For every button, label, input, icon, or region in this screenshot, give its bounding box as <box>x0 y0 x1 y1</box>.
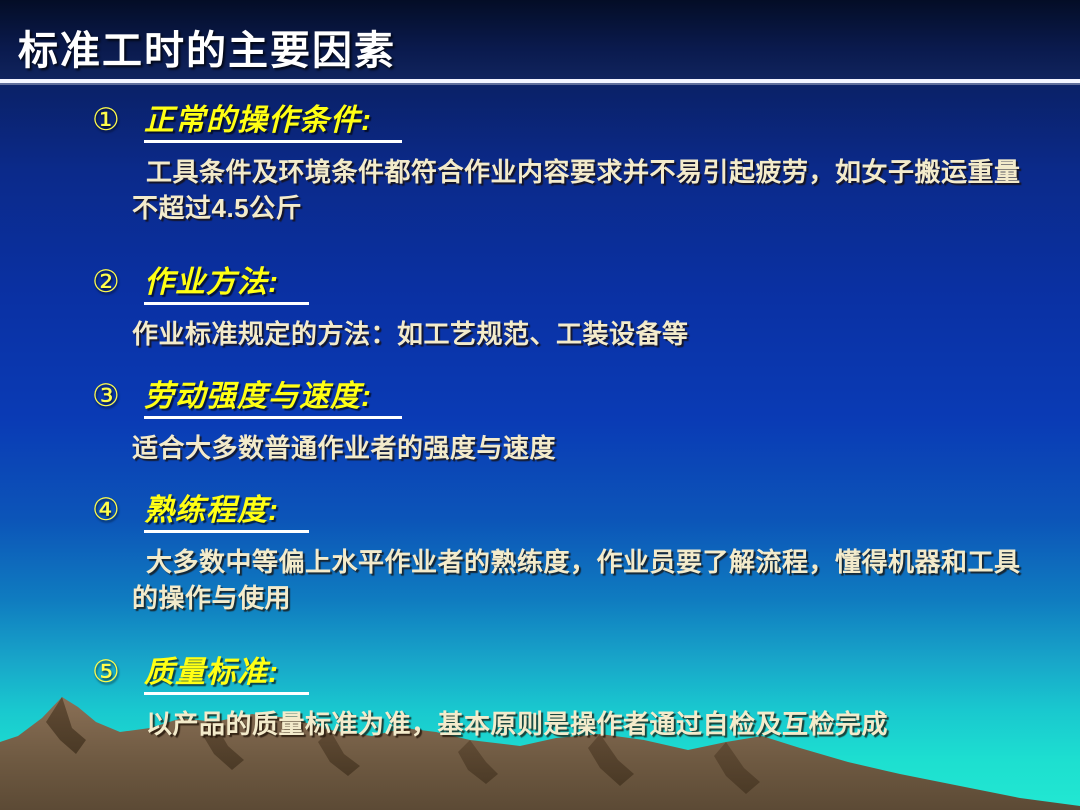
list-item-2-body: 作业标准规定的方法：如工艺规范、工装设备等 <box>132 316 1042 353</box>
list-item-3: ③ 劳动强度与速度: 适合大多数普通作业者的强度与速度 <box>0 380 1080 466</box>
list-item-5-body: 以产品的质量标准为准，基本原则是操作者通过自检及互检完成 <box>132 706 1042 743</box>
presentation-slide: 标准工时的主要因素 ① 正常的操作条件: 工具条件及环境条件都符合作业内容要求并… <box>0 0 1080 810</box>
list-item-3-body: 适合大多数普通作业者的强度与速度 <box>132 430 1042 467</box>
list-item-4: ④ 熟练程度: 大多数中等偏上水平作业者的熟练度，作业员要了解流程，懂得机器和工… <box>0 494 1080 617</box>
list-marker-4: ④ <box>92 494 144 525</box>
list-item-1-label: 正常的操作条件: <box>144 105 402 143</box>
list-marker-2: ② <box>92 266 144 297</box>
list-item-2: ② 作业方法: 作业标准规定的方法：如工艺规范、工装设备等 <box>0 266 1080 352</box>
list-item-3-heading-row: ③ 劳动强度与速度: <box>0 380 1080 419</box>
list-item-5: ⑤ 质量标准: 以产品的质量标准为准，基本原则是操作者通过自检及互检完成 <box>0 656 1080 742</box>
list-item-1: ① 正常的操作条件: 工具条件及环境条件都符合作业内容要求并不易引起疲劳，如女子… <box>0 104 1080 227</box>
list-marker-1: ① <box>92 104 144 135</box>
list-marker-5: ⑤ <box>92 656 144 687</box>
list-item-3-label: 劳动强度与速度: <box>144 381 402 419</box>
list-item-1-body: 工具条件及环境条件都符合作业内容要求并不易引起疲劳，如女子搬运重量不超过4.5公… <box>132 154 1042 228</box>
list-item-5-heading-row: ⑤ 质量标准: <box>0 656 1080 695</box>
list-item-4-body: 大多数中等偏上水平作业者的熟练度，作业员要了解流程，懂得机器和工具的操作与使用 <box>132 544 1042 618</box>
list-item-2-label: 作业方法: <box>144 267 309 305</box>
list-marker-3: ③ <box>92 380 144 411</box>
list-item-1-heading-row: ① 正常的操作条件: <box>0 104 1080 143</box>
page-title: 标准工时的主要因素 <box>18 18 396 76</box>
list-item-4-heading-row: ④ 熟练程度: <box>0 494 1080 533</box>
list-item-5-label: 质量标准: <box>144 657 309 695</box>
factor-list: ① 正常的操作条件: 工具条件及环境条件都符合作业内容要求并不易引起疲劳，如女子… <box>0 80 1080 810</box>
list-item-2-heading-row: ② 作业方法: <box>0 266 1080 305</box>
list-item-4-label: 熟练程度: <box>144 495 309 533</box>
title-bar: 标准工时的主要因素 <box>0 0 1080 80</box>
